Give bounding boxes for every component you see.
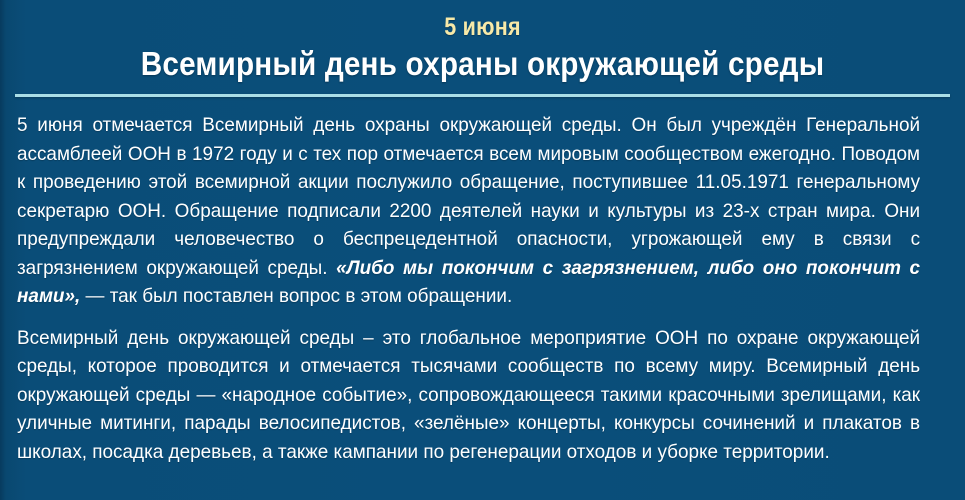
paragraph-2-text-0: Всемирный день окружающей среды – это гл… — [17, 327, 920, 463]
paragraph-1: 5 июня отмечается Всемирный день охраны … — [17, 111, 920, 311]
header-date: 5 июня — [68, 12, 898, 42]
body-copy: 5 июня отмечается Всемирный день охраны … — [0, 97, 965, 466]
slide-root: 5 июня Всемирный день охраны окружающей … — [0, 0, 965, 500]
paragraph-1-text-2: — так был поставлен вопрос в этом обраще… — [80, 285, 512, 307]
slide-header: 5 июня Всемирный день охраны окружающей … — [0, 0, 965, 84]
paragraph-2: Всемирный день окружающей среды – это гл… — [17, 324, 920, 467]
paragraph-1-text-0: 5 июня отмечается Всемирный день охраны … — [17, 114, 920, 279]
page-title: Всемирный день охраны окружающей среды — [48, 44, 917, 84]
